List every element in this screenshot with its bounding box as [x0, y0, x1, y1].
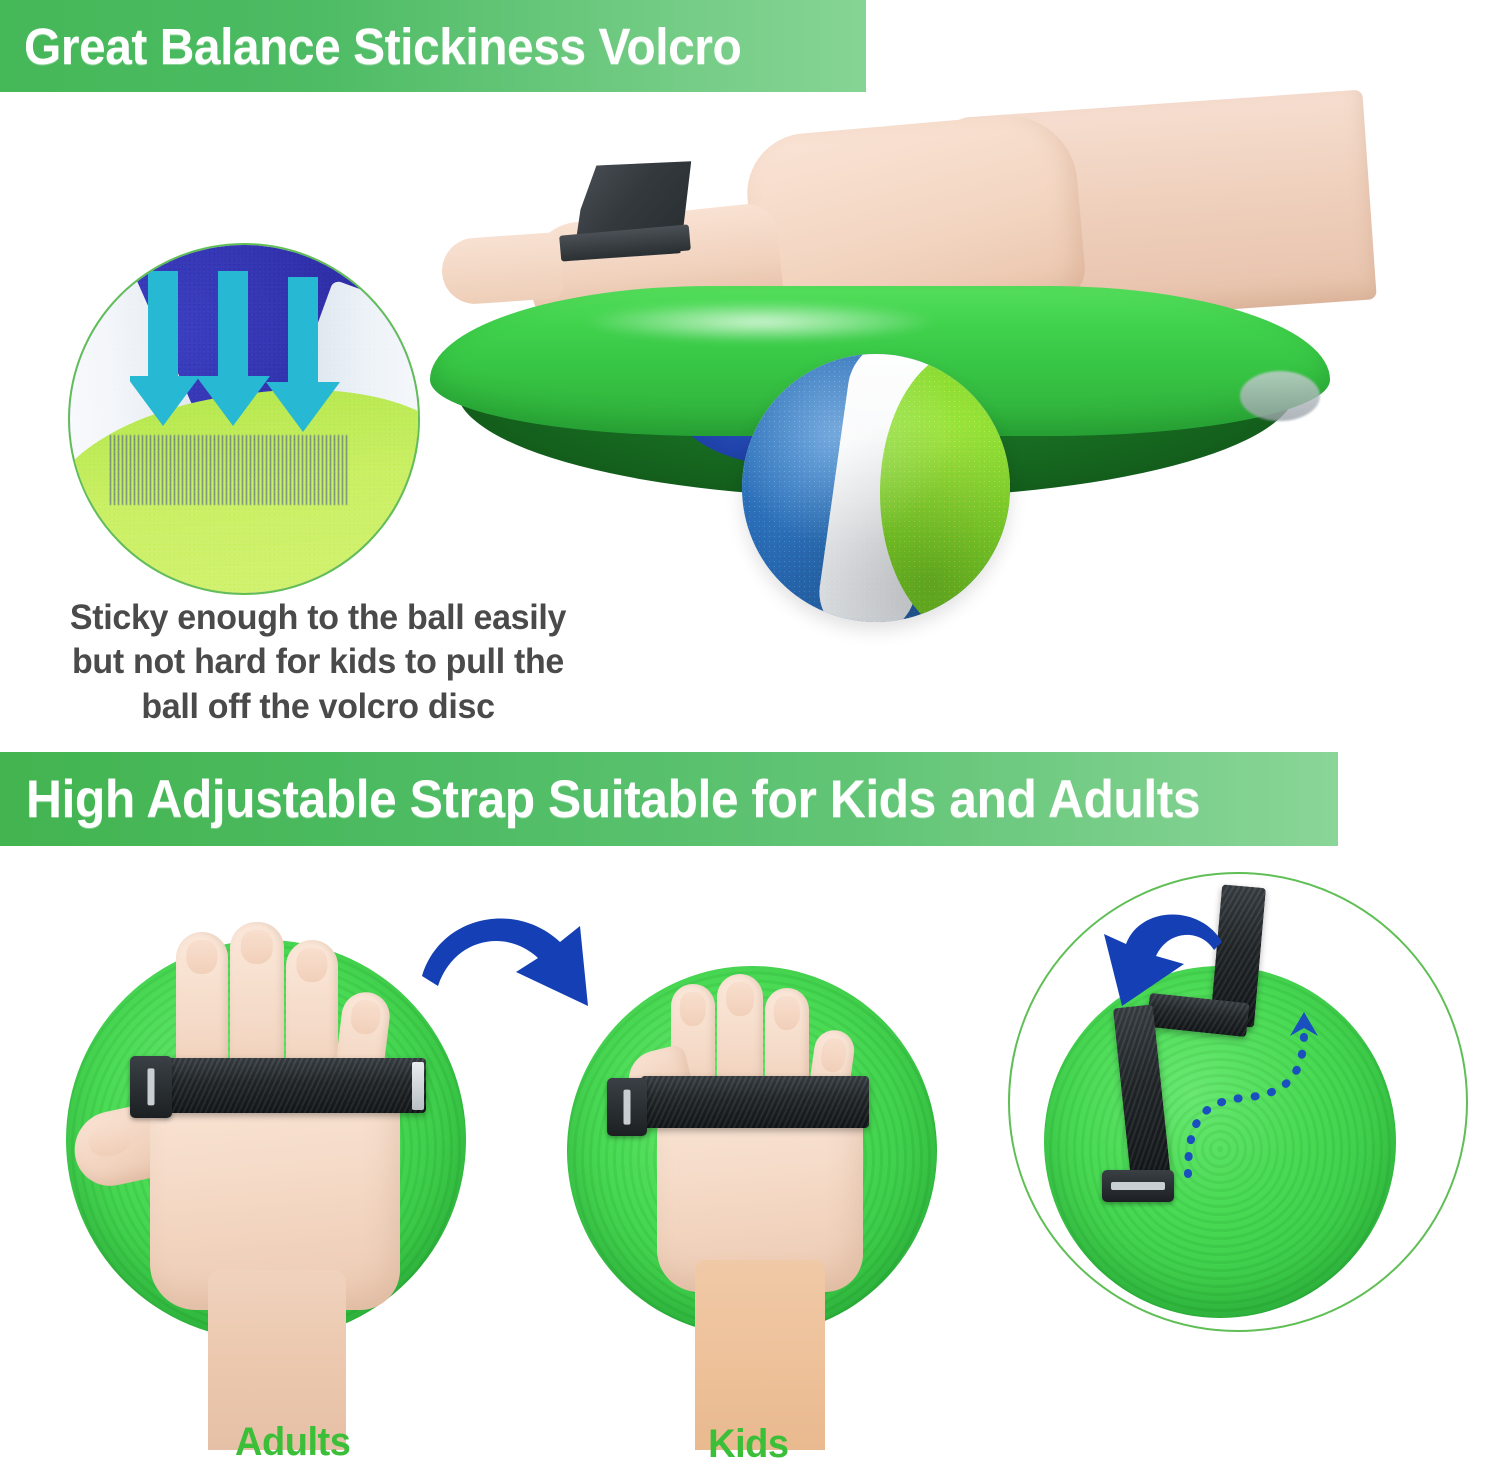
velcro-ball: [742, 354, 1010, 622]
caption-line-3: ball off the volcro disc: [19, 685, 617, 729]
nail-thumb: [86, 1122, 133, 1160]
nail-index-kid: [680, 992, 706, 1026]
strap-buckle-adults: [130, 1056, 172, 1118]
banner-great-balance: Great Balance Stickiness Volcro: [0, 0, 866, 92]
dotted-strap-path-arrow: [1178, 924, 1378, 1184]
velcro-detail-circle: [68, 243, 420, 595]
nail-pinky: [349, 999, 382, 1036]
fingertips: [440, 232, 564, 306]
nail-ring-kid: [774, 996, 800, 1030]
nail-middle-kid: [726, 982, 754, 1016]
nail-middle: [241, 930, 273, 964]
hero-photo-disc-balance: [420, 96, 1360, 666]
banner-mid-text: High Adjustable Strap Suitable for Kids …: [26, 773, 1200, 826]
disc-rim-highlight: [1240, 371, 1320, 421]
label-adults: Adults: [235, 1420, 350, 1465]
banner-top-text: Great Balance Stickiness Volcro: [24, 21, 741, 72]
strap-buckle-detail: [1102, 1170, 1174, 1202]
strap-band-adults: [158, 1058, 426, 1113]
infographic-canvas: Great Balance Stickiness Volcro: [0, 0, 1500, 1482]
buckle-slot-kids: [624, 1090, 631, 1125]
nail-pinky-kid: [819, 1037, 847, 1074]
cyan-down-arrows: [130, 271, 360, 441]
disc-gloss-highlight: [580, 301, 940, 343]
banner-adjustable-strap: High Adjustable Strap Suitable for Kids …: [0, 752, 1338, 846]
buckle-slot-adults: [148, 1068, 155, 1105]
strap-tip-adults: [412, 1062, 424, 1110]
strap-band-kids: [641, 1076, 869, 1128]
panel-kids-grip: [545, 960, 945, 1430]
caption-line-2: but not hard for kids to pull the: [19, 640, 617, 684]
buckle-slot-detail: [1111, 1182, 1165, 1190]
caption-line-1: Sticky enough to the ball easily: [19, 596, 617, 640]
panel-strap-adjustment: [1010, 870, 1460, 1340]
label-kids: Kids: [708, 1422, 788, 1467]
nail-ring: [296, 948, 327, 982]
strap-buckle-kids: [607, 1078, 647, 1136]
ball-shading: [742, 354, 1010, 622]
nail-index: [186, 940, 217, 974]
stickiness-caption: Sticky enough to the ball easily but not…: [10, 596, 626, 729]
